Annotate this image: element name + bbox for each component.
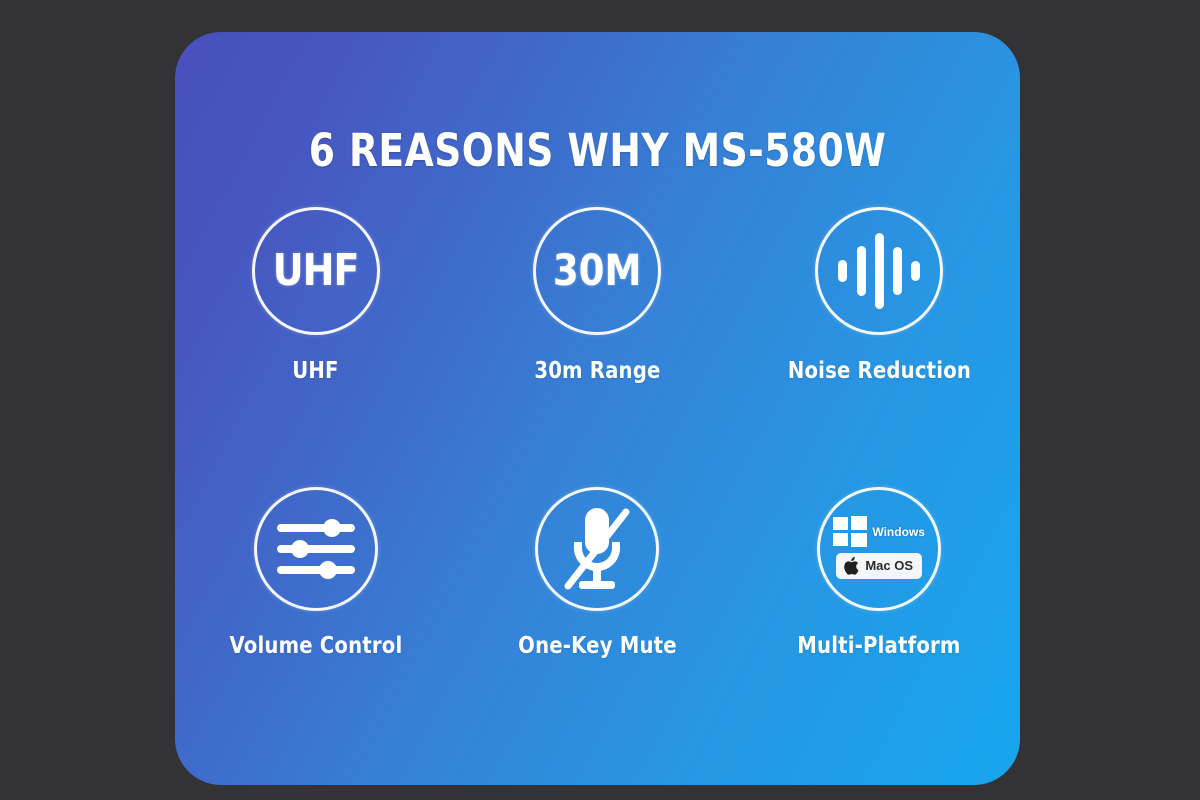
uhf-icon-label: UHF [273,249,359,293]
windows-logo-icon [833,516,867,548]
feature-item-range[interactable]: 30M 30m Range [457,207,739,462]
mac-badge: Mac OS [836,553,922,579]
waveform-icon [815,207,943,335]
uhf-text-icon: UHF [252,207,380,335]
windows-badge: Windows [833,516,925,548]
page-title: 6 REASONS WHY MS-580W [205,124,991,177]
mac-label: Mac OS [865,558,913,573]
feature-label-noise-reduction: Noise Reduction [788,358,971,384]
feature-item-multi-platform[interactable]: Windows Mac OS Mu [738,487,1020,742]
sliders-icon [254,487,378,611]
microphone-muted-icon [535,487,659,611]
windows-label: Windows [872,525,925,539]
apple-logo-icon [843,556,860,576]
feature-item-one-key-mute[interactable]: One-Key Mute [457,487,739,742]
feature-item-volume-control[interactable]: Volume Control [175,487,457,742]
infographic-card: 6 REASONS WHY MS-580W UHF UHF 30M 30m Ra… [175,32,1020,785]
feature-item-uhf[interactable]: UHF UHF [175,207,457,462]
feature-label-one-key-mute: One-Key Mute [518,633,677,659]
feature-label-volume-control: Volume Control [229,633,402,659]
features-grid: UHF UHF 30M 30m Range [175,207,1020,742]
range-icon-label: 30M [553,250,642,293]
os-badges: Windows Mac OS [833,516,925,579]
page-canvas: 6 REASONS WHY MS-580W UHF UHF 30M 30m Ra… [0,0,1200,800]
feature-label-multi-platform: Multi-Platform [798,633,961,659]
range-text-icon: 30M [533,207,661,335]
feature-label-range: 30m Range [534,358,660,384]
feature-label-uhf: UHF [293,358,339,384]
feature-item-noise-reduction[interactable]: Noise Reduction [738,207,1020,462]
multi-platform-icon: Windows Mac OS [817,487,941,611]
